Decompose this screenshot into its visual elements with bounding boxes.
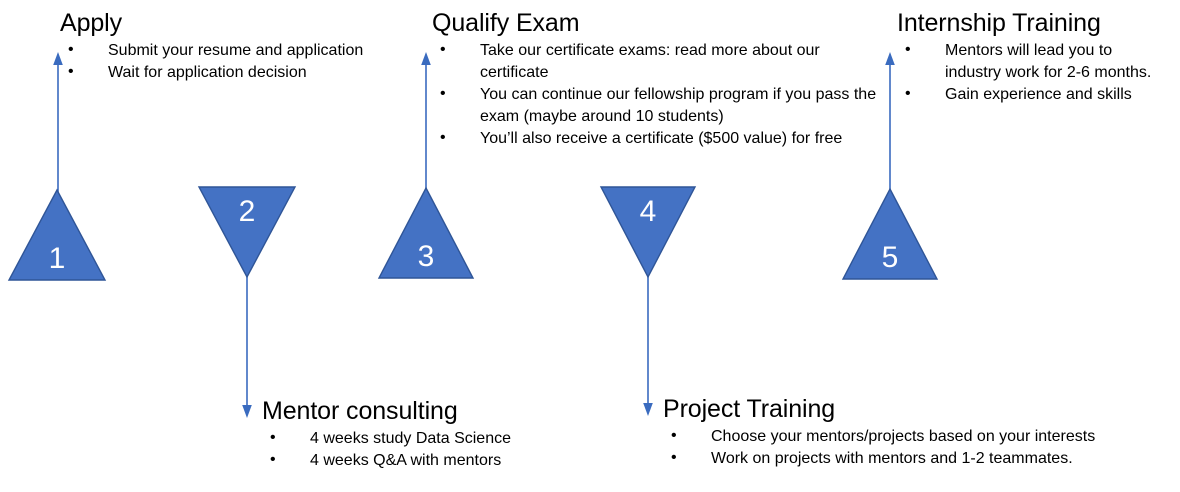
list-item: Take our certificate exams: read more ab… xyxy=(432,40,892,84)
step-1-text-block: Apply Submit your resume and application… xyxy=(60,8,410,84)
diagram-canvas: Apply Submit your resume and application… xyxy=(0,0,1180,492)
step-1-bullet-list: Submit your resume and application Wait … xyxy=(60,40,410,84)
step-3-text-block: Qualify Exam Take our certificate exams:… xyxy=(432,8,892,150)
step-2-triangle-down[interactable]: 2 xyxy=(197,185,297,279)
step-2-text-block: Mentor consulting 4 weeks study Data Sci… xyxy=(262,396,592,472)
list-item: You can continue our fellowship program … xyxy=(432,84,892,128)
step-4-title: Project Training xyxy=(663,394,1133,424)
step-3-bullet-list: Take our certificate exams: read more ab… xyxy=(432,40,892,150)
step-4-down-arrow xyxy=(638,274,658,418)
step-4-triangle-down[interactable]: 4 xyxy=(599,185,697,279)
list-item: 4 weeks study Data Science xyxy=(262,428,592,450)
list-item: Choose your mentors/projects based on yo… xyxy=(663,426,1133,448)
step-1-up-arrow xyxy=(48,50,68,192)
step-2-down-arrow xyxy=(237,274,257,420)
list-item: Mentors will lead you to industry work f… xyxy=(897,40,1172,84)
step-3-title: Qualify Exam xyxy=(432,8,892,38)
step-4-text-block: Project Training Choose your mentors/pro… xyxy=(663,394,1133,470)
list-item: Gain experience and skills xyxy=(897,84,1172,106)
list-item: 4 weeks Q&A with mentors xyxy=(262,450,592,472)
step-5-bullet-list: Mentors will lead you to industry work f… xyxy=(897,40,1172,106)
list-item: Wait for application decision xyxy=(60,62,410,84)
step-2-title: Mentor consulting xyxy=(262,396,592,426)
step-5-triangle-up[interactable]: 5 xyxy=(841,187,939,281)
step-2-bullet-list: 4 weeks study Data Science 4 weeks Q&A w… xyxy=(262,428,592,472)
step-5-text-block: Internship Training Mentors will lead yo… xyxy=(897,8,1172,106)
step-5-up-arrow xyxy=(880,50,900,192)
step-1-title: Apply xyxy=(60,8,410,38)
list-item: Submit your resume and application xyxy=(60,40,410,62)
step-1-triangle-up[interactable]: 1 xyxy=(7,188,107,282)
step-5-title: Internship Training xyxy=(897,8,1172,38)
step-4-bullet-list: Choose your mentors/projects based on yo… xyxy=(663,426,1133,470)
list-item: Work on projects with mentors and 1-2 te… xyxy=(663,448,1133,470)
list-item: You’ll also receive a certificate ($500 … xyxy=(432,128,892,150)
step-3-up-arrow xyxy=(416,50,436,190)
step-3-triangle-up[interactable]: 3 xyxy=(377,186,475,280)
